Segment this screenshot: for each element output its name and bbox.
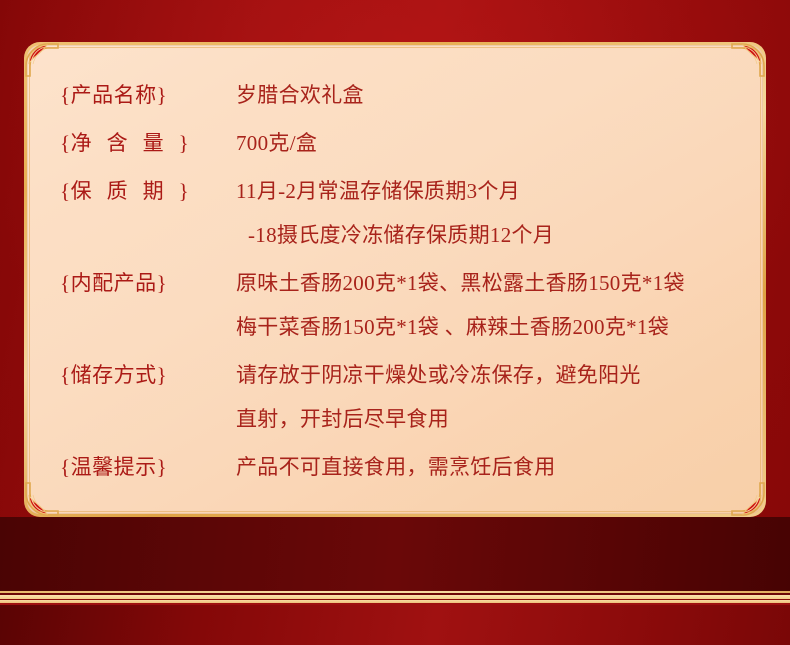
label-brace-open: { (60, 271, 71, 295)
product-detail-banner: {产品名称}岁腊合欢礼盒{净含量}700克/盒{保质期}11月-2月常温存储保质… (0, 0, 790, 645)
spec-value-product-name: 岁腊合欢礼盒 (232, 73, 747, 117)
spec-row-net-weight: {净含量}700克/盒 (60, 121, 747, 165)
spec-row-list: {产品名称}岁腊合欢礼盒{净含量}700克/盒{保质期}11月-2月常温存储保质… (60, 73, 747, 493)
spec-value-line: 700克/盒 (236, 121, 747, 165)
spec-value-line: 岁腊合欢礼盒 (236, 73, 747, 117)
label-brace-open: { (60, 363, 71, 387)
label-text: 产品名称 (71, 73, 157, 117)
spec-value-line: 原味土香肠200克*1袋、黑松露土香肠150克*1袋 (236, 261, 747, 305)
spec-label-net-weight: {净含量} (60, 121, 232, 165)
spec-value-included-products: 原味土香肠200克*1袋、黑松露土香肠150克*1袋梅干菜香肠150克*1袋 、… (232, 261, 747, 349)
spec-value-warm-tips: 产品不可直接食用，需烹饪后食用 (232, 445, 747, 489)
background-red-lower (0, 605, 790, 645)
spec-value-shelf-life: 11月-2月常温存储保质期3个月-18摄氏度冷冻储存保质期12个月 (232, 169, 747, 257)
label-brace-open: { (60, 455, 71, 479)
spec-value-line: 梅干菜香肠150克*1袋 、麻辣土香肠200克*1袋 (236, 305, 747, 349)
label-brace-close: } (157, 363, 168, 387)
spec-label-included-products: {内配产品} (60, 261, 232, 305)
label-text: 保质期 (71, 169, 179, 213)
spec-row-warm-tips: {温馨提示}产品不可直接食用，需烹饪后食用 (60, 445, 747, 489)
label-brace-close: } (157, 271, 168, 295)
spec-row-shelf-life: {保质期}11月-2月常温存储保质期3个月-18摄氏度冷冻储存保质期12个月 (60, 169, 747, 257)
spec-value-line: 产品不可直接食用，需烹饪后食用 (236, 445, 747, 489)
label-text: 净含量 (71, 121, 179, 165)
spec-value-line: 11月-2月常温存储保质期3个月 (236, 169, 747, 213)
label-brace-open: { (60, 179, 71, 203)
label-text: 温馨提示 (71, 445, 157, 489)
spec-row-included-products: {内配产品}原味土香肠200克*1袋、黑松露土香肠150克*1袋梅干菜香肠150… (60, 261, 747, 349)
spec-label-storage-method: {储存方式} (60, 353, 232, 397)
spec-row-product-name: {产品名称}岁腊合欢礼盒 (60, 73, 747, 117)
spec-label-product-name: {产品名称} (60, 73, 232, 117)
spec-label-shelf-life: {保质期} (60, 169, 232, 213)
label-brace-close: } (157, 83, 168, 107)
spec-value-line: -18摄氏度冷冻储存保质期12个月 (236, 213, 747, 257)
label-text: 内配产品 (71, 261, 157, 305)
label-brace-close: } (179, 131, 190, 155)
spec-label-warm-tips: {温馨提示} (60, 445, 232, 489)
spec-value-storage-method: 请存放于阴凉干燥处或冷冻保存，避免阳光直射，开封后尽早食用 (232, 353, 747, 441)
product-spec-card: {产品名称}岁腊合欢礼盒{净含量}700克/盒{保质期}11月-2月常温存储保质… (24, 42, 766, 517)
label-brace-open: { (60, 83, 71, 107)
label-brace-open: { (60, 131, 71, 155)
label-brace-close: } (157, 455, 168, 479)
background-red-dark-band (0, 517, 790, 591)
spec-value-line: 请存放于阴凉干燥处或冷冻保存，避免阳光 (236, 353, 747, 397)
label-brace-close: } (179, 179, 190, 203)
spec-value-net-weight: 700克/盒 (232, 121, 747, 165)
spec-value-line: 直射，开封后尽早食用 (236, 397, 747, 441)
spec-row-storage-method: {储存方式}请存放于阴凉干燥处或冷冻保存，避免阳光直射，开封后尽早食用 (60, 353, 747, 441)
label-text: 储存方式 (71, 353, 157, 397)
